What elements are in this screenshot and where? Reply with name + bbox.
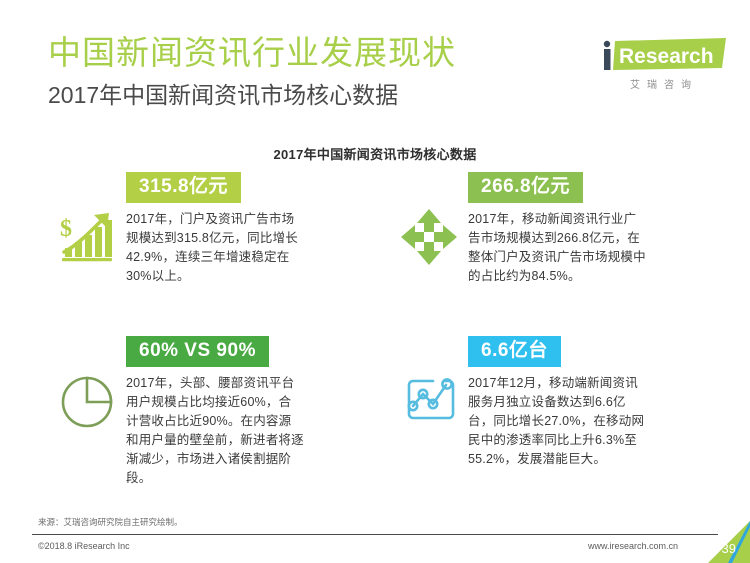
scatter-network-icon: [390, 336, 468, 430]
page-number: 39: [722, 541, 736, 556]
status-badge: 315.8亿元: [126, 172, 241, 203]
card-body: 266.8亿元 2017年，移动新闻资讯行业广告市场规模达到266.8亿元，在整…: [468, 172, 710, 286]
status-badge: 60% VS 90%: [126, 336, 269, 367]
stat-card-mobile-ad-market: 266.8亿元 2017年，移动新闻资讯行业广告市场规模达到266.8亿元，在整…: [390, 172, 710, 286]
corner-decoration: [688, 521, 750, 563]
stat-card-platform-share: 60% VS 90% 2017年，头部、腰部资讯平台用户规模占比均接近60%，合…: [48, 336, 368, 488]
card-description: 2017年，移动新闻资讯行业广告市场规模达到266.8亿元，在整体门户及资讯广告…: [468, 210, 646, 286]
svg-text:Research: Research: [619, 45, 714, 68]
card-body: 315.8亿元 2017年，门户及资讯广告市场规模达到315.8亿元，同比增长4…: [126, 172, 368, 286]
page-title: 中国新闻资讯行业发展现状: [48, 26, 456, 74]
four-arrows-move-icon: [390, 172, 468, 266]
stat-card-portal-ad-market: $ 315.8亿元 2017年，门户及资讯广告市场规模达到315.8亿元，同比增…: [48, 172, 368, 286]
website-url: www.iresearch.com.cn: [588, 541, 678, 551]
svg-text:$: $: [60, 216, 72, 242]
page-subtitle: 2017年中国新闻资讯市场核心数据: [48, 76, 398, 110]
pie-chart-icon: [48, 336, 126, 430]
card-description: 2017年，门户及资讯广告市场规模达到315.8亿元，同比增长42.9%，连续三…: [126, 210, 304, 286]
stat-card-mobile-devices: 6.6亿台 2017年12月，移动端新闻资讯服务月独立设备数达到6.6亿台，同比…: [390, 336, 710, 469]
card-body: 6.6亿台 2017年12月，移动端新闻资讯服务月独立设备数达到6.6亿台，同比…: [468, 336, 710, 469]
status-badge: 6.6亿台: [468, 336, 561, 367]
stat-card-grid: $ 315.8亿元 2017年，门户及资讯广告市场规模达到315.8亿元，同比增…: [38, 172, 712, 504]
status-badge: 266.8亿元: [468, 172, 583, 203]
card-description: 2017年，头部、腰部资讯平台用户规模占比均接近60%，合计营收占比近90%。在…: [126, 374, 304, 488]
source-note: 来源：艾瑞咨询研究院自主研究绘制。: [38, 516, 183, 528]
card-body: 60% VS 90% 2017年，头部、腰部资讯平台用户规模占比均接近60%，合…: [126, 336, 368, 488]
footer-divider: [32, 534, 718, 535]
logo-chinese-text: 艾瑞咨询: [593, 76, 728, 91]
copyright-text: ©2018.8 iResearch Inc: [38, 541, 130, 551]
chart-title: 2017年中国新闻资讯市场核心数据: [0, 144, 750, 163]
logo-mark-icon: Research: [593, 38, 728, 72]
card-description: 2017年12月，移动端新闻资讯服务月独立设备数达到6.6亿台，同比增长27.0…: [468, 374, 646, 469]
page-header: 中国新闻资讯行业发展现状 2017年中国新闻资讯市场核心数据 Research …: [0, 0, 750, 122]
growth-chart-dollar-icon: $: [48, 172, 126, 266]
iresearch-logo: Research 艾瑞咨询: [593, 38, 728, 91]
